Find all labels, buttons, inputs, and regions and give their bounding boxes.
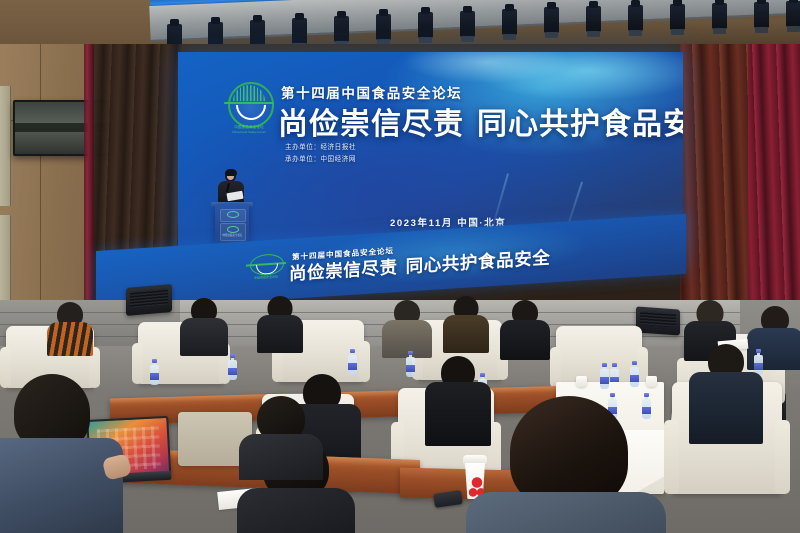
- person-body: [180, 318, 228, 356]
- person-body: [443, 315, 489, 353]
- conference-photo: 中国食品安全论坛 China Food Safety Forum 第十四届中国食…: [0, 0, 800, 533]
- wall-seam: [40, 44, 41, 310]
- speaker-grill: [130, 288, 169, 307]
- forum-headline: 尚俭崇信尽责同心共护食品安全: [278, 99, 683, 143]
- apron-logo-label: 中国食品安全论坛: [247, 274, 285, 280]
- person-body: [689, 372, 763, 444]
- stage-light-icon: [418, 12, 433, 38]
- person-body: [47, 322, 93, 356]
- floor-monitor-speaker: [126, 284, 172, 316]
- bottle-label: [150, 373, 159, 380]
- bottle-cap: [230, 354, 235, 358]
- bottle-cap: [612, 363, 617, 367]
- bottle-cap: [350, 349, 355, 353]
- tea-cup: [576, 376, 587, 387]
- water-bottle: [348, 348, 357, 375]
- audience-member-foreground: [246, 396, 316, 468]
- audience-member-foreground: [6, 374, 116, 533]
- person-body: [237, 488, 355, 533]
- stage-light-icon: [670, 4, 685, 30]
- audience-member: [48, 302, 92, 354]
- person-body: [257, 315, 303, 353]
- podium-label: 中国食品安全论坛: [222, 233, 242, 237]
- podium-logo-icon: [227, 226, 239, 233]
- audience-member: [502, 300, 548, 358]
- audience-member-foreground-right: [500, 396, 650, 533]
- audience-member: [258, 296, 302, 354]
- stage-light-icon: [754, 2, 769, 28]
- organizer-host: 主办单位：经济日报社: [285, 141, 356, 151]
- water-bottle: [600, 362, 609, 389]
- stage-light-icon: [586, 6, 601, 32]
- bottle-label: [630, 375, 639, 382]
- headline-left: 尚俭崇信尽责: [278, 108, 464, 141]
- forum-logo: 中国食品安全论坛 China Food Safety Forum: [226, 82, 272, 134]
- stage-light-icon: [376, 14, 391, 40]
- stage-light-icon: [292, 18, 307, 44]
- audience-member-front: [430, 356, 486, 444]
- bottle-cap: [152, 359, 157, 363]
- stage-light-icon: [786, 1, 800, 27]
- tea-cup: [646, 376, 657, 387]
- bottle-cap: [408, 351, 413, 355]
- apron-forum-logo: 中国食品安全论坛: [248, 253, 288, 286]
- stage-curtain-right-deep: [748, 44, 800, 316]
- person-body: [0, 438, 123, 533]
- speaker-grill: [640, 310, 677, 327]
- bottle-label: [228, 368, 237, 375]
- bottle-cap: [632, 361, 637, 365]
- stage-light-icon: [628, 5, 643, 31]
- speaker-hair: [225, 169, 237, 176]
- person-body: [239, 434, 323, 480]
- stage-light-icon: [460, 11, 475, 37]
- podium-logo-icon: [227, 211, 239, 218]
- cup-lid: [463, 455, 487, 464]
- water-bottle: [406, 350, 415, 377]
- audience-member: [384, 300, 430, 356]
- audience-member: [444, 296, 488, 352]
- headline-right: 同心共护食品安全: [477, 108, 683, 141]
- floor-monitor-speaker: [636, 306, 680, 335]
- person-body: [466, 492, 666, 533]
- stage-light-icon: [502, 9, 517, 35]
- bottle-cap: [756, 349, 761, 353]
- person-body: [500, 320, 550, 360]
- audience-member-front: [696, 344, 756, 440]
- water-bottle: [630, 360, 639, 387]
- logo-name-en: China Food Safety Forum: [223, 130, 275, 134]
- audience-member: [182, 298, 226, 354]
- water-bottle: [150, 358, 159, 385]
- stage-light-icon: [250, 20, 265, 46]
- door-frame: [0, 86, 11, 206]
- person-body: [425, 382, 491, 446]
- stage-curtain-left-edge: [84, 44, 94, 314]
- apron-headline-left: 尚俭崇信尽责: [289, 257, 398, 284]
- bottle-cap: [602, 363, 607, 367]
- bottle-label: [406, 365, 415, 372]
- water-bottle: [228, 353, 237, 380]
- stage-light-icon: [334, 16, 349, 42]
- apron-headline-gap: [398, 273, 406, 274]
- bottle-label: [348, 363, 357, 370]
- stage-light-icon: [712, 3, 727, 29]
- organizer-co: 承办单位：中国经济网: [285, 153, 356, 163]
- stage-light-icon: [544, 7, 559, 33]
- bottle-label: [600, 377, 609, 384]
